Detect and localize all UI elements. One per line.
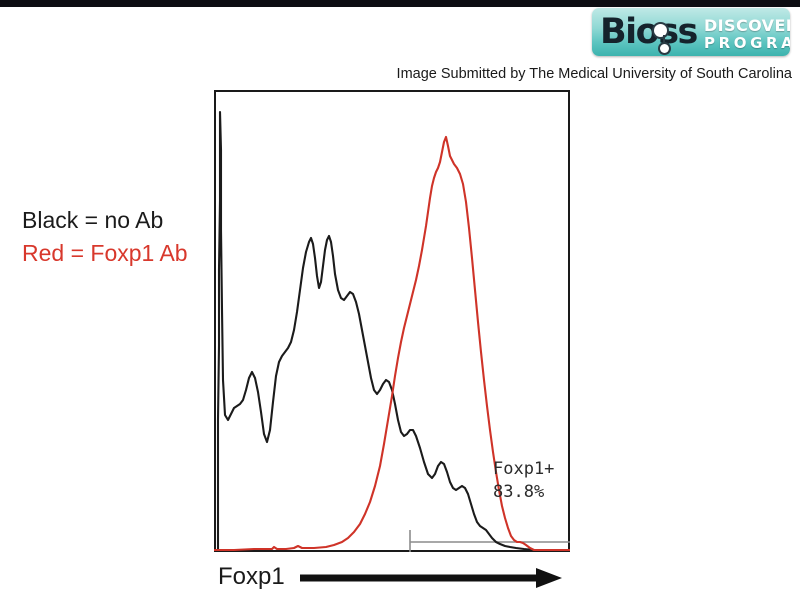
gate-annotation-label: Foxp1+ [493, 458, 554, 481]
x-axis-label: Foxp1 [218, 563, 285, 591]
bioss-wordmark: Bioss [600, 11, 697, 53]
x-axis-arrow-icon [300, 566, 562, 590]
legend: Black = no Ab Red = Foxp1 Ab [22, 204, 188, 270]
bioss-discovery-program-logo: Bioss DISCOVERY PROGRAM [592, 8, 790, 56]
image-credit-text: Image Submitted by The Medical Universit… [0, 66, 792, 82]
molecule-node-lower-icon [660, 44, 669, 53]
slide-canvas: Bioss DISCOVERY PROGRAM Image Submitted … [0, 0, 800, 600]
gate-annotation-percent: 83.8% [493, 481, 554, 504]
logo-program-text: PROGRAM [704, 34, 790, 52]
gate-marker-group [410, 530, 570, 552]
logo-discovery-text: DISCOVERY [704, 16, 790, 35]
molecule-node-icon [654, 24, 667, 37]
gate-annotation: Foxp1+ 83.8% [493, 458, 554, 504]
legend-entry-black: Black = no Ab [22, 204, 188, 237]
top-bar [0, 0, 800, 7]
legend-entry-red: Red = Foxp1 Ab [22, 237, 188, 270]
